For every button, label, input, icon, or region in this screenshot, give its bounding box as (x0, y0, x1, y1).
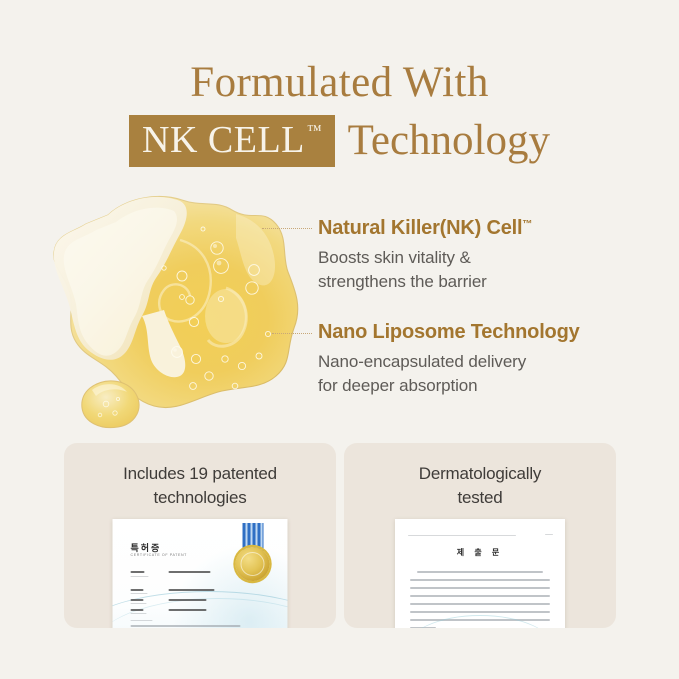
feature-description: Nano-encapsulated delivery for deeper ab… (318, 350, 658, 398)
promo-page: Formulated With NK CELL™ Technology (0, 0, 679, 679)
feature-title-text: Natural Killer(NK) Cell (318, 217, 522, 239)
cert-field-value (169, 589, 215, 591)
nk-cell-badge-label: NK CELL (142, 119, 305, 162)
leader-line-nano-liposome (272, 333, 312, 334)
nk-cell-badge-trademark-icon: ™ (307, 124, 322, 139)
cert-field-value (169, 571, 211, 573)
certificate-subtitle: CERTIFICATE OF PATENT (131, 553, 187, 557)
gold-medal-seal (236, 547, 270, 581)
report-body-line (410, 587, 550, 589)
cert-field-label (131, 589, 144, 591)
heading-line-2: NK CELL™ Technology (0, 115, 679, 167)
feature-title-text: Nano Liposome Technology (318, 321, 580, 343)
report-body-line (410, 611, 550, 613)
page-title: Formulated With NK CELL™ Technology (0, 58, 679, 167)
trademark-icon: ™ (522, 219, 532, 230)
cert-field-label (131, 571, 145, 573)
feature-title: Nano Liposome Technology (318, 316, 658, 345)
card-patents: Includes 19 patented technologies 특허증 CE… (64, 443, 336, 628)
feature-title: Natural Killer(NK) Cell™ (318, 212, 658, 241)
heading-line-1: Formulated With (0, 58, 679, 108)
cert-field-label (131, 599, 144, 601)
feature-list: Natural Killer(NK) Cell™ Boosts skin vit… (318, 212, 658, 420)
clinical-test-report-image: 제 출 문 (395, 519, 565, 628)
card-title: Includes 19 patented technologies (64, 462, 336, 510)
patent-certificate-image: 특허증 CERTIFICATE OF PATENT (113, 519, 288, 628)
cert-field-label (131, 609, 144, 611)
golden-serum-swatch (30, 180, 310, 430)
feature-item-nano-liposome: Nano Liposome Technology Nano-encapsulat… (318, 316, 658, 398)
report-body-line (410, 595, 550, 597)
report-body-line (417, 571, 543, 573)
feature-description-line-2: for deeper absorption (318, 374, 658, 398)
report-body-line (410, 579, 550, 581)
cert-field-value (169, 609, 207, 611)
heading-technology-word: Technology (348, 117, 550, 165)
report-title: 제 출 문 (395, 547, 565, 558)
cert-field-value (169, 599, 207, 601)
report-header-line (408, 535, 516, 536)
feature-description-line-2: strengthens the barrier (318, 270, 658, 294)
feature-item-nk-cell: Natural Killer(NK) Cell™ Boosts skin vit… (318, 212, 658, 294)
card-title-line-2: tested (457, 488, 502, 507)
leader-line-nk-cell (262, 228, 312, 229)
card-title: Dermatologically tested (344, 462, 616, 510)
card-dermatologically-tested: Dermatologically tested 제 출 문 (344, 443, 616, 628)
report-body-line (410, 603, 550, 605)
report-header-meta (408, 533, 516, 537)
card-title-line-1: Dermatologically (419, 464, 541, 483)
card-title-line-1: Includes 19 patented (123, 464, 277, 483)
feature-description: Boosts skin vitality & strengthens the b… (318, 246, 658, 294)
feature-description-line-1: Nano-encapsulated delivery (318, 350, 658, 374)
feature-description-line-1: Boosts skin vitality & (318, 246, 658, 270)
card-title-line-2: technologies (153, 488, 246, 507)
nk-cell-badge: NK CELL™ (129, 115, 335, 167)
proof-card-list: Includes 19 patented technologies 특허증 CE… (64, 443, 616, 628)
